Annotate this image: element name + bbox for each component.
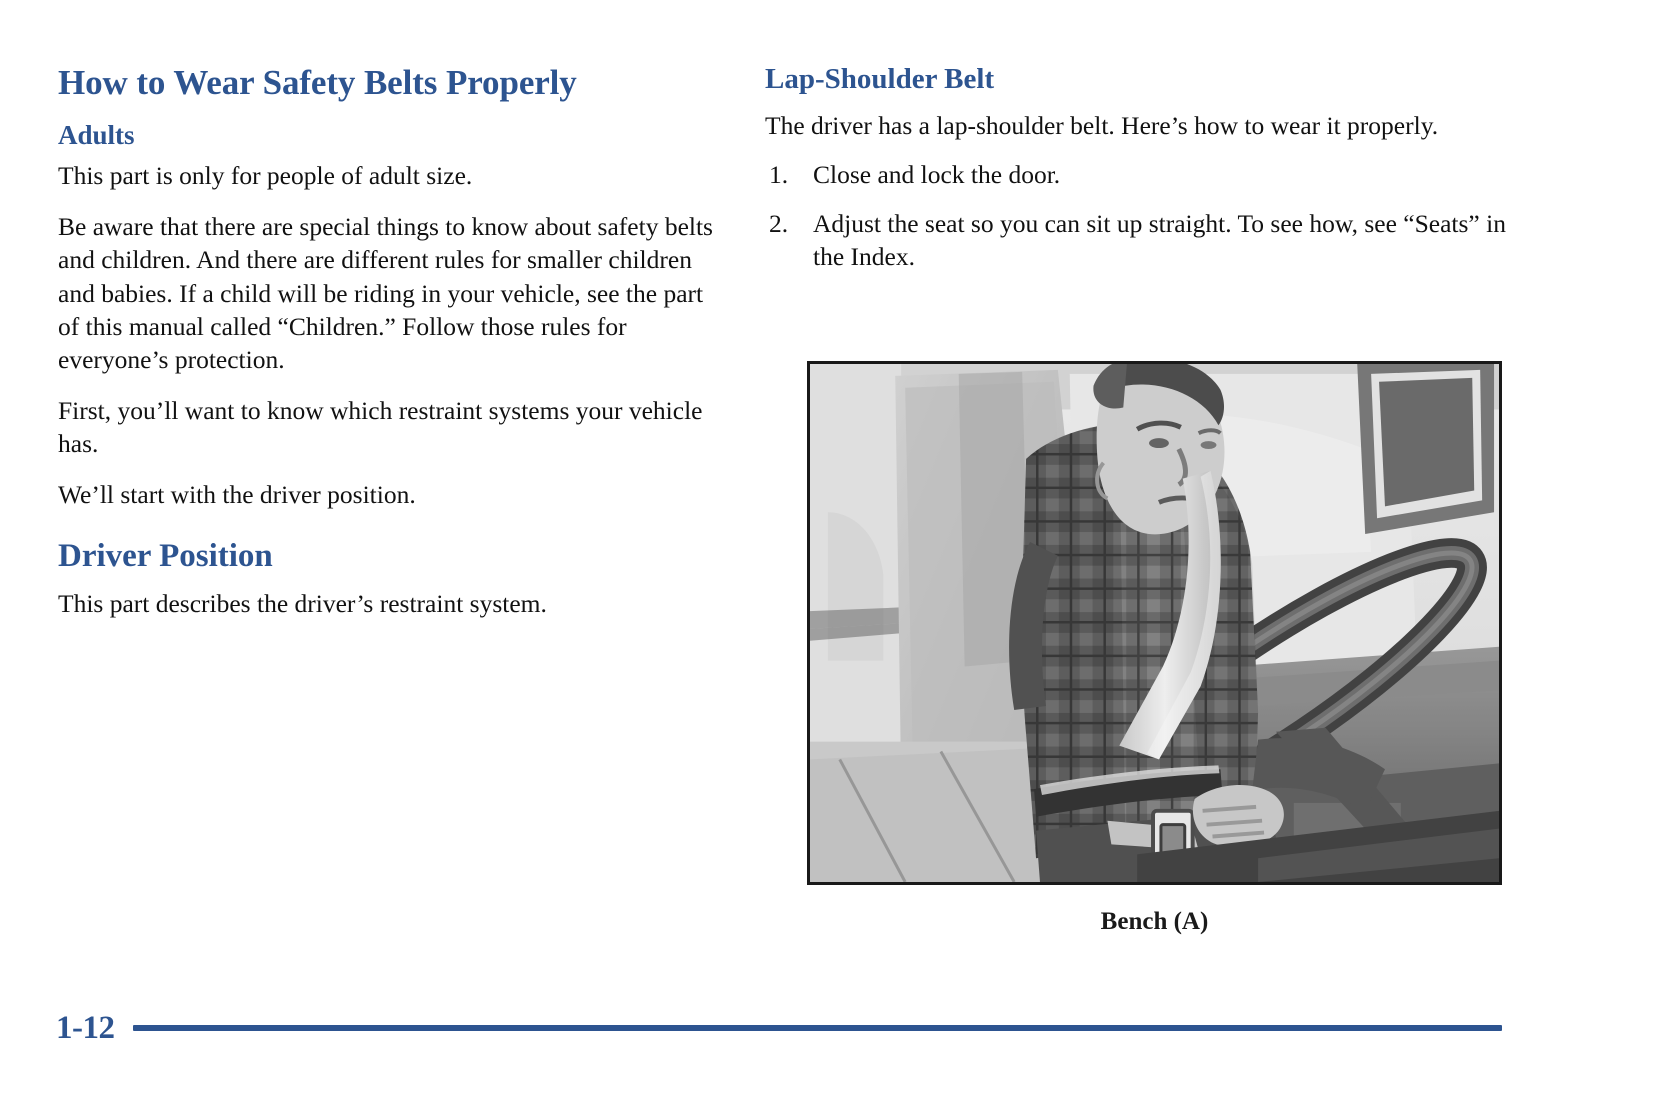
driver-lap-shoulder-belt-illustration	[810, 364, 1499, 882]
section-heading-driver-position: Driver Position	[58, 537, 718, 577]
paragraph-driver-position-intro: We’ll start with the driver position.	[58, 478, 718, 511]
manual-page: How to Wear Safety Belts Properly Adults…	[0, 0, 1653, 1099]
paragraph-restraint-systems: First, you’ll want to know which restrai…	[58, 394, 718, 460]
list-item: 2. Adjust the seat so you can sit up str…	[765, 207, 1510, 273]
paragraph-adult-size: This part is only for people of adult si…	[58, 159, 718, 192]
step-number: 2.	[769, 207, 803, 240]
list-item: 1. Close and lock the door.	[765, 158, 1510, 191]
section-heading-lap-shoulder-belt: Lap-Shoulder Belt	[765, 62, 1510, 97]
paragraph-driver-restraint-system: This part describes the driver’s restrai…	[58, 587, 718, 620]
page-number: 1-12	[56, 1010, 115, 1047]
figure-bench-a	[807, 361, 1502, 885]
step-number: 1.	[769, 158, 803, 191]
subheading-adults: Adults	[58, 119, 718, 151]
right-column: Lap-Shoulder Belt The driver has a lap-s…	[765, 62, 1510, 289]
figure-caption-bench-a: Bench (A)	[807, 908, 1502, 936]
page-footer: 1-12	[56, 1008, 1502, 1048]
page-title: How to Wear Safety Belts Properly	[58, 62, 718, 105]
paragraph-children-note: Be aware that there are special things t…	[58, 210, 718, 376]
instruction-steps-list: 1. Close and lock the door. 2. Adjust th…	[765, 158, 1510, 273]
paragraph-lap-shoulder-intro: The driver has a lap-shoulder belt. Here…	[765, 109, 1510, 142]
footer-rule	[133, 1025, 1503, 1031]
step-text: Close and lock the door.	[813, 160, 1060, 189]
left-column: How to Wear Safety Belts Properly Adults…	[58, 62, 718, 638]
step-text: Adjust the seat so you can sit up straig…	[813, 209, 1506, 271]
figure-frame	[807, 361, 1502, 885]
